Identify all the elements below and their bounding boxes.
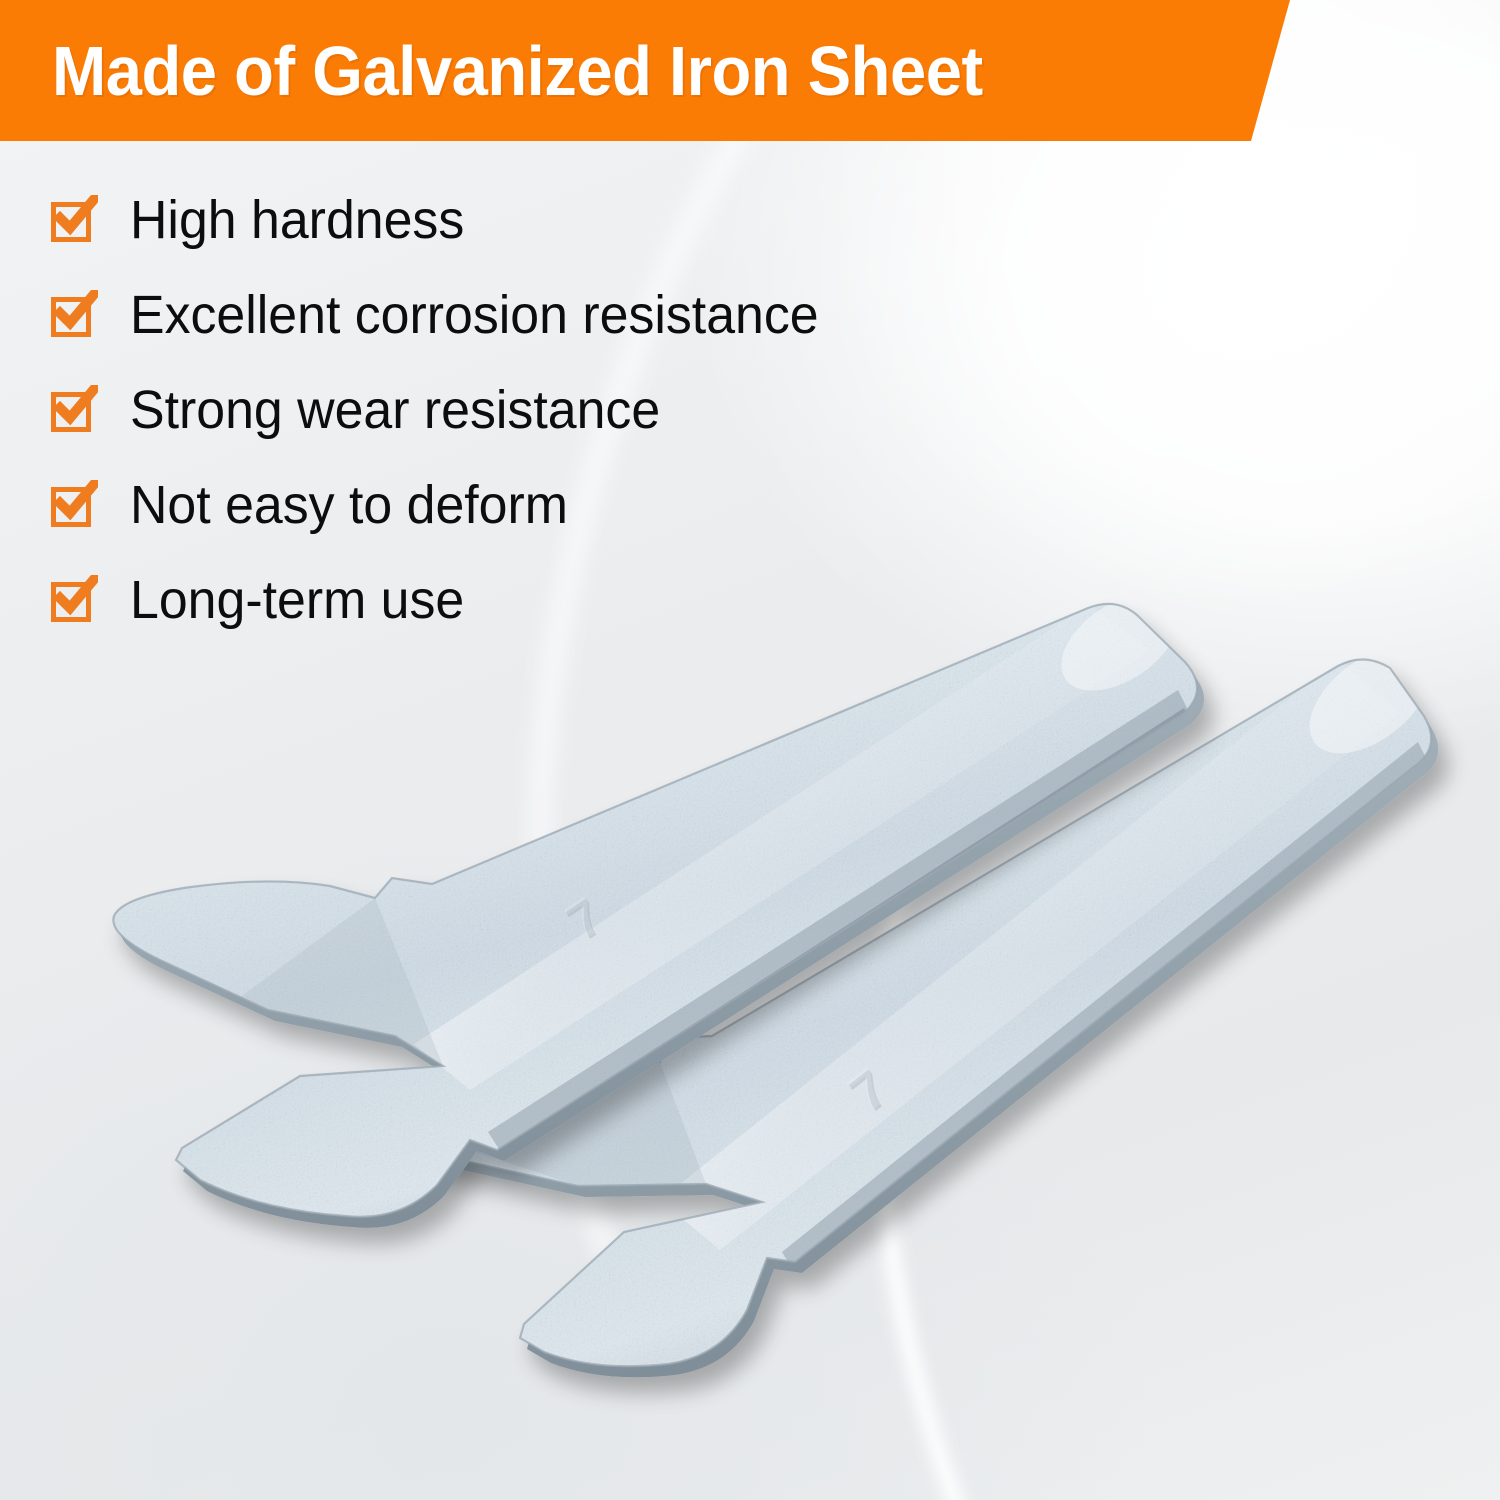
check-mark-icon — [54, 290, 98, 334]
check-mark-icon — [54, 385, 98, 429]
checkbox-checked-icon — [48, 289, 100, 341]
feature-list: High hardness Excellent corrosion resist… — [48, 172, 1048, 647]
list-item: High hardness — [48, 172, 1048, 267]
list-item: Long-term use — [48, 552, 1048, 647]
feature-label: Strong wear resistance — [130, 383, 660, 437]
list-item: Excellent corrosion resistance — [48, 267, 1048, 362]
feature-label: High hardness — [130, 193, 464, 247]
list-item: Not easy to deform — [48, 457, 1048, 552]
header-banner: Made of Galvanized Iron Sheet — [0, 0, 1290, 141]
feature-label: Excellent corrosion resistance — [130, 288, 819, 342]
checkbox-checked-icon — [48, 574, 100, 626]
checkbox-checked-icon — [48, 384, 100, 436]
feature-label: Not easy to deform — [130, 478, 568, 532]
checkbox-checked-icon — [48, 194, 100, 246]
feature-label: Long-term use — [130, 573, 464, 627]
check-mark-icon — [54, 480, 98, 524]
list-item: Strong wear resistance — [48, 362, 1048, 457]
page-title: Made of Galvanized Iron Sheet — [52, 36, 983, 106]
checkbox-checked-icon — [48, 479, 100, 531]
product-feature-image: 7 7 — [0, 0, 1500, 1500]
check-mark-icon — [54, 195, 98, 239]
check-mark-icon — [54, 575, 98, 619]
